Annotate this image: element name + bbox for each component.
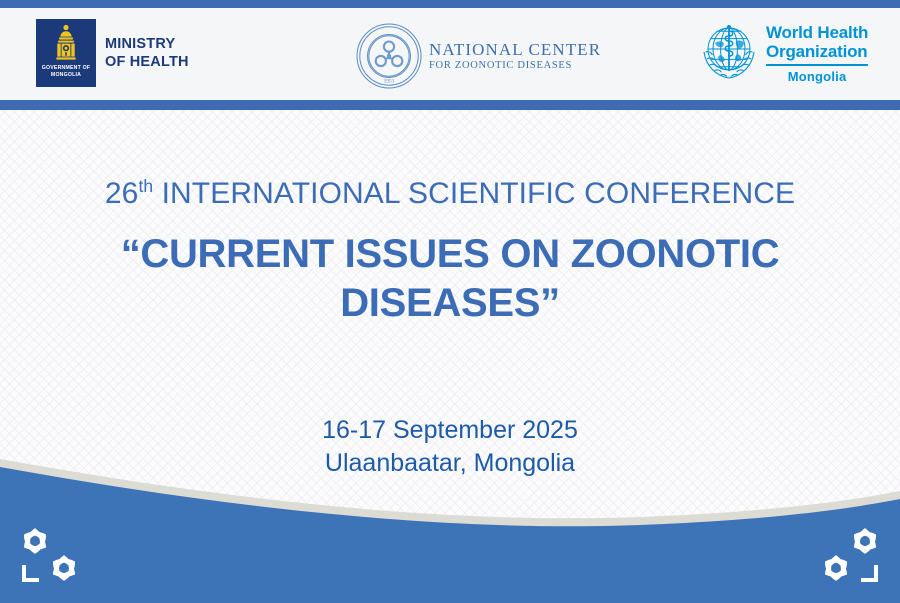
conference-label: INTERNATIONAL SCIENTIFIC CONFERENCE [162,177,796,210]
top-accent-strip [0,0,900,8]
header-divider-strip [0,100,900,110]
zoonotic-seal-icon: 1951 NATIONAL CENTER FOR ZOONOTIC DISEAS… [355,22,423,90]
conference-subtitle: 26th INTERNATIONAL SCIENTIFIC CONFERENCE [0,176,900,211]
emblem-caption-line2: MONGOLIA [51,72,81,78]
svg-text:ZOONOTIC: ZOONOTIC [422,22,423,24]
conference-title-slide: GOVERNMENT OF MONGOLIA MINISTRY OF HEALT… [0,0,900,603]
triquetra-knot-ornament-left [14,521,92,591]
ministry-of-health-logo: GOVERNMENT OF MONGOLIA MINISTRY OF HEALT… [36,19,189,87]
ministry-name-line2: OF HEALTH [105,53,189,71]
who-name-line2: Organization [766,42,868,61]
mongolia-government-emblem: GOVERNMENT OF MONGOLIA [36,19,96,87]
bottom-wave-decoration [0,453,900,603]
seal-year: 1951 [384,78,395,84]
who-name-line1: World Health [766,23,868,42]
who-country-label: Mongolia [766,69,868,84]
who-emblem-icon [698,21,760,83]
triquetra-knot-icon [808,521,886,591]
triquetra-knot-ornament-right [808,521,886,591]
national-center-name-line2: FOR ZOONOTIC DISEASES [429,60,601,72]
emblem-caption: GOVERNMENT OF MONGOLIA [42,65,90,79]
who-name-block: World Health Organization Mongolia [766,21,868,84]
page-title: “CURRENT ISSUES ON ZOONOTIC DISEASES” [60,230,840,328]
triquetra-knot-icon [14,521,92,591]
soyombo-emblem-icon [51,23,81,63]
national-center-name: NATIONAL CENTER FOR ZOONOTIC DISEASES [429,40,601,73]
national-center-zoonotic-diseases-logo: 1951 NATIONAL CENTER FOR ZOONOTIC DISEAS… [355,22,601,90]
conference-ordinal: th [138,176,153,196]
who-divider-rule [766,64,868,66]
ministry-of-health-name: MINISTRY OF HEALTH [105,35,189,71]
conference-number: 26 [105,177,139,210]
emblem-caption-line1: GOVERNMENT OF [42,65,90,71]
ministry-name-line1: MINISTRY [105,35,189,53]
wave-shapes [0,453,900,603]
event-dates: 16-17 September 2025 [0,414,900,447]
who-mongolia-logo: World Health Organization Mongolia [698,21,868,84]
national-center-name-line1: NATIONAL CENTER [429,40,601,60]
